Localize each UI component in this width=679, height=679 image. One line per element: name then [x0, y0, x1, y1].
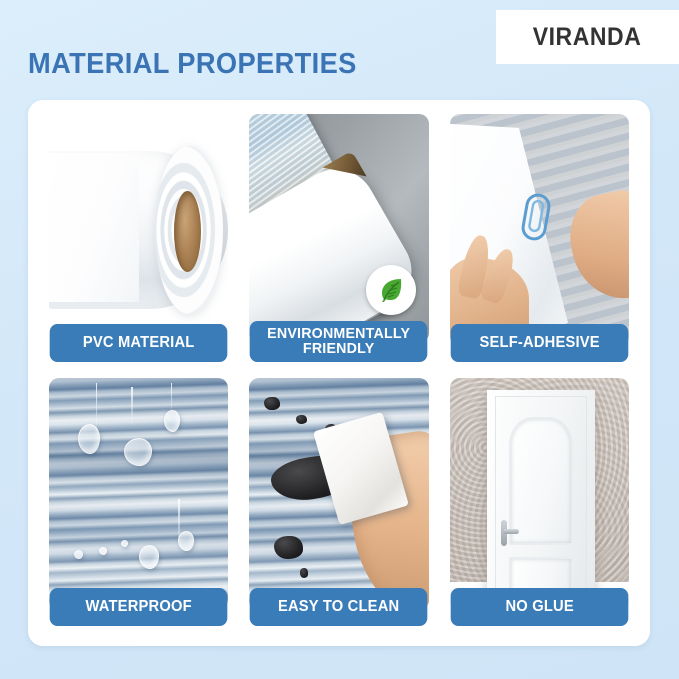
feature-label-environmentally-friendly: ENVIRONMENTALLYFRIENDLY	[250, 321, 428, 363]
feature-grid: PVC MATERIAL ENVIRONMENTALLYFRIENDLY	[43, 114, 635, 632]
feature-label-easy-to-clean: EASY TO CLEAN	[250, 588, 428, 626]
page-title: MATERIAL PROPERTIES	[28, 48, 357, 81]
green-leaf-icon	[366, 265, 416, 315]
feature-cell-pvc-material[interactable]: PVC MATERIAL	[43, 114, 234, 368]
wallpaper-roll-icon	[249, 114, 428, 343]
feature-label-no-glue: NO GLUE	[450, 588, 628, 626]
feature-label-self-adhesive: SELF-ADHESIVE	[450, 324, 628, 362]
feature-card: PVC MATERIAL ENVIRONMENTALLYFRIENDLY	[28, 100, 650, 646]
vinyl-roll-icon	[49, 114, 228, 346]
brand-logo: VIRANDA	[496, 10, 679, 64]
door-icon	[450, 378, 629, 610]
feature-cell-no-glue[interactable]: NO GLUE	[444, 378, 635, 632]
peeling-film-icon	[450, 114, 629, 346]
feature-cell-easy-to-clean[interactable]: EASY TO CLEAN	[243, 378, 434, 632]
page-header: MATERIAL PROPERTIES VIRANDA	[0, 0, 679, 100]
feature-cell-self-adhesive[interactable]: SELF-ADHESIVE	[444, 114, 635, 368]
feature-cell-environmentally-friendly[interactable]: ENVIRONMENTALLYFRIENDLY	[243, 114, 434, 368]
feature-label-waterproof: WATERPROOF	[50, 588, 228, 626]
water-drop-icon	[49, 378, 228, 610]
brand-name: VIRANDA	[533, 23, 642, 52]
feature-cell-waterproof[interactable]: WATERPROOF	[43, 378, 234, 632]
feature-label-pvc-material: PVC MATERIAL	[50, 324, 228, 362]
cleaning-cloth-icon	[249, 378, 428, 610]
